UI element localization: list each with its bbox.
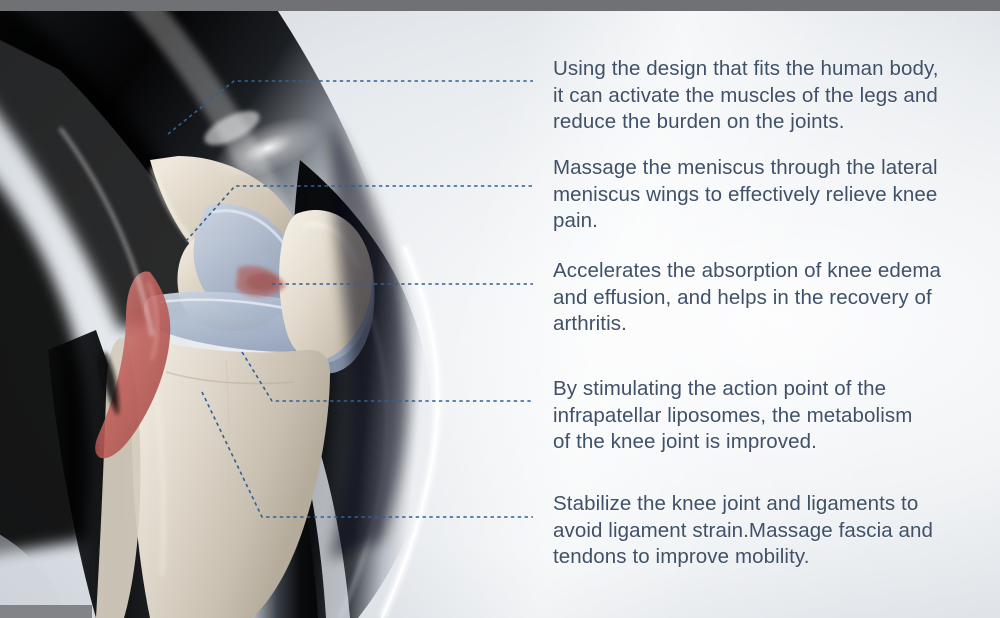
- callout-5: Stabilize the knee joint and ligaments t…: [553, 491, 985, 571]
- callout-text-column: Using the design that fits the human bod…: [553, 0, 993, 618]
- callout-1: Using the design that fits the human bod…: [553, 56, 985, 136]
- callout-4: By stimulating the action point of the i…: [553, 376, 985, 456]
- top-border-bar: [0, 0, 1000, 11]
- callout-2: Massage the meniscus through the lateral…: [553, 155, 985, 235]
- knee-anatomy-illustration: [0, 0, 560, 618]
- callout-3: Accelerates the absorption of knee edema…: [553, 258, 985, 338]
- infographic-canvas: Using the design that fits the human bod…: [0, 0, 1000, 618]
- bottom-left-border-bar: [0, 605, 92, 618]
